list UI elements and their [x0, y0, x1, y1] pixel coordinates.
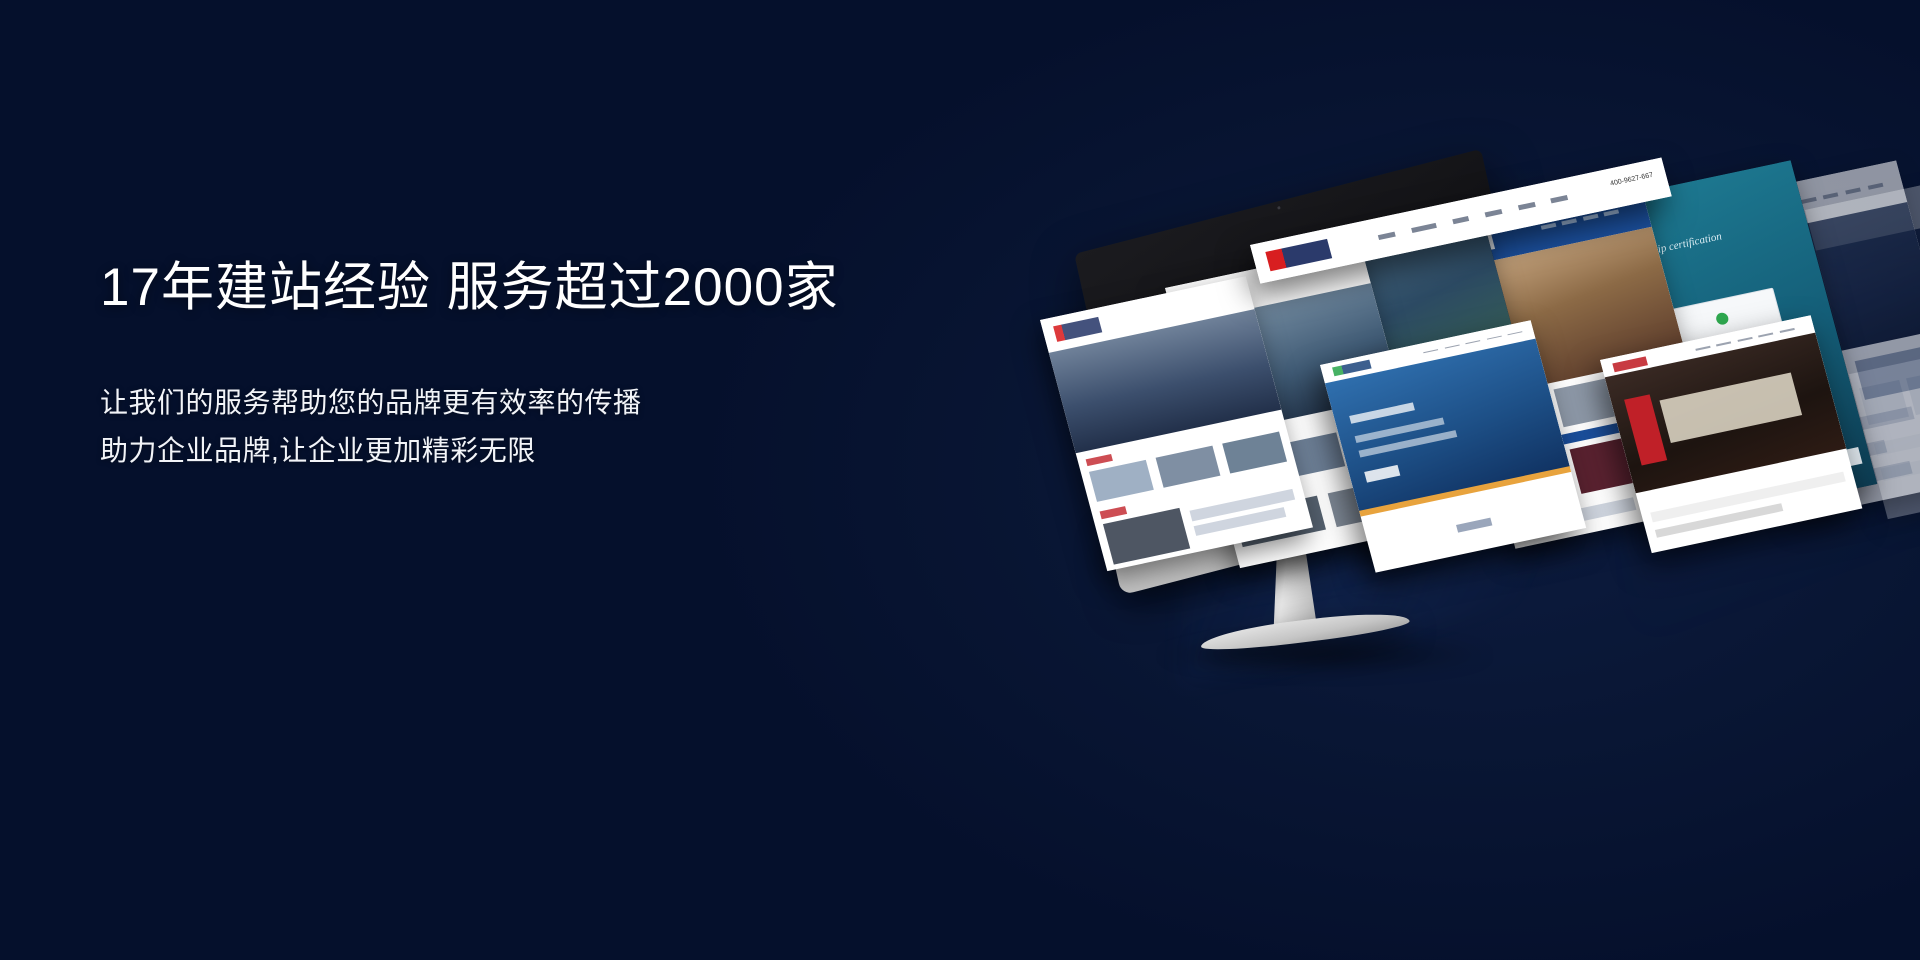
- hero-subtitle: 让我们的服务帮助您的品牌更有效率的传播 助力企业品牌,让企业更加精彩无限: [100, 321, 1000, 475]
- hero-copy: 17年建站经验 服务超过2000家 让我们的服务帮助您的品牌更有效率的传播 助力…: [100, 255, 1000, 475]
- page-title: 17年建站经验 服务超过2000家: [100, 255, 1000, 321]
- success-icon: [1715, 311, 1730, 325]
- hero-banner: 17年建站经验 服务超过2000家 让我们的服务帮助您的品牌更有效率的传播 助力…: [0, 0, 1920, 960]
- subtitle-line-2: 助力企业品牌,让企业更加精彩无限: [100, 427, 1000, 475]
- contact-phone: 400-9627-667: [1609, 172, 1654, 188]
- website-screens-fan: Membership certification: [1000, 170, 1920, 640]
- subtitle-line-1: 让我们的服务帮助您的品牌更有效率的传播: [100, 379, 1000, 427]
